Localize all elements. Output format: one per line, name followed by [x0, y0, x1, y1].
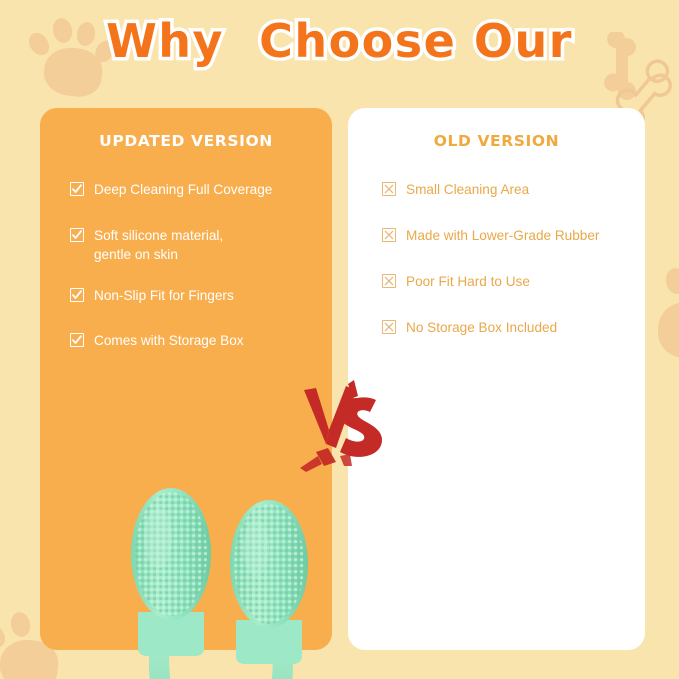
list-item-label: Small Cleaning Area [406, 180, 529, 199]
infographic-canvas: Why Choose Our UPDATED VERSION Deep Clea… [0, 0, 679, 679]
list-item-label: Poor Fit Hard to Use [406, 272, 530, 291]
page-title-bar: Why Choose Our [0, 14, 679, 68]
vs-label [300, 380, 382, 472]
page-title: Why Choose Our [106, 14, 573, 68]
list-item-label: Deep Cleaning Full Coverage [94, 180, 272, 199]
updated-version-heading: UPDATED VERSION [40, 132, 332, 150]
old-version-feature-list: Small Cleaning Area Made with Lower-Grad… [348, 176, 645, 337]
updated-version-feature-list: Deep Cleaning Full Coverage Soft silicon… [40, 176, 332, 350]
dual-silicone-finger-toothbrush-image: TOOT HBRUSH [102, 480, 340, 679]
list-item: Non-Slip Fit for Fingers [40, 286, 332, 305]
checkbox-checked-icon [70, 182, 84, 196]
list-item: Made with Lower-Grade Rubber [348, 226, 645, 245]
checkbox-checked-icon [70, 333, 84, 347]
list-item: Small Cleaning Area [348, 180, 645, 199]
old-version-panel: OLD VERSION Small Cleaning Area Made wit… [348, 108, 645, 650]
vs-badge [296, 374, 392, 474]
list-item-label: Comes with Storage Box [94, 331, 244, 350]
old-version-heading: OLD VERSION [348, 132, 645, 150]
updated-version-panel: UPDATED VERSION Deep Cleaning Full Cover… [40, 108, 332, 650]
checkbox-x-icon [382, 274, 396, 288]
list-item-label: Soft silicone material, gentle on skin [94, 226, 223, 264]
list-item: Poor Fit Hard to Use [348, 272, 645, 291]
checkbox-x-icon [382, 228, 396, 242]
list-item: No Storage Box Included [348, 318, 645, 337]
checkbox-checked-icon [70, 288, 84, 302]
list-item-label: Non-Slip Fit for Fingers [94, 286, 234, 305]
list-item: Soft silicone material, gentle on skin [40, 226, 332, 264]
list-item-label: Made with Lower-Grade Rubber [406, 226, 599, 245]
list-item: Comes with Storage Box [40, 331, 332, 350]
checkbox-x-icon [382, 182, 396, 196]
paw-print-icon [640, 268, 679, 364]
checkbox-checked-icon [70, 228, 84, 242]
checkbox-x-icon [382, 320, 396, 334]
list-item: Deep Cleaning Full Coverage [40, 180, 332, 199]
list-item-label: No Storage Box Included [406, 318, 557, 337]
